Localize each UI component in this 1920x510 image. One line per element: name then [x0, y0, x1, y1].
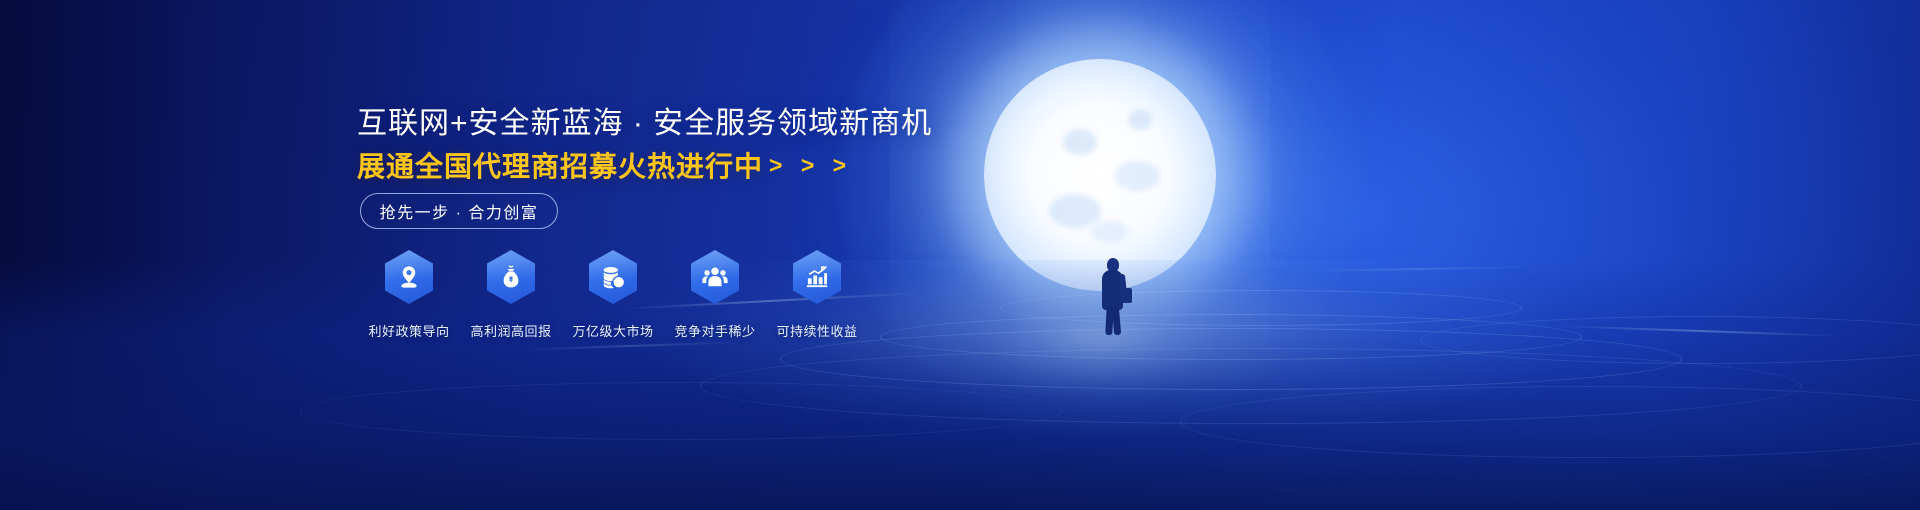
feature-item: 竞争对手稀少: [664, 250, 766, 340]
chevron-right-arrows-icon: > > >: [769, 152, 852, 179]
money-bag-yen-icon: [487, 250, 535, 304]
banner-headline: 互联网+安全新蓝海 · 安全服务领域新商机: [357, 98, 932, 142]
feature-label: 高利润高回报: [470, 321, 551, 340]
location-pin-icon: [385, 250, 433, 304]
cta-pill-button[interactable]: 抢先一步 · 合力创富: [360, 193, 558, 229]
people-group-icon: [691, 250, 739, 304]
feature-item: 万亿级大市场: [562, 250, 664, 340]
banner-subheadline-row: 展通全国代理商招募火热进行中 > > >: [357, 145, 852, 185]
promo-banner: 互联网+安全新蓝海 · 安全服务领域新商机 展通全国代理商招募火热进行中 > >…: [0, 0, 1920, 510]
feature-label: 利好政策导向: [368, 321, 449, 340]
feature-item: 利好政策导向: [358, 250, 460, 340]
coin-stack-yen-icon: [589, 250, 637, 304]
banner-subheadline: 展通全国代理商招募火热进行中: [357, 145, 763, 185]
bar-chart-growth-icon: [793, 250, 841, 304]
feature-label: 可持续性收益: [776, 321, 857, 340]
banner-content: 互联网+安全新蓝海 · 安全服务领域新商机 展通全国代理商招募火热进行中 > >…: [0, 0, 1920, 510]
feature-item: 可持续性收益: [766, 250, 868, 340]
feature-item: 高利润高回报: [460, 250, 562, 340]
feature-label: 万亿级大市场: [572, 321, 653, 340]
feature-list: 利好政策导向 高利润高回报: [358, 250, 868, 340]
feature-label: 竞争对手稀少: [674, 321, 755, 340]
